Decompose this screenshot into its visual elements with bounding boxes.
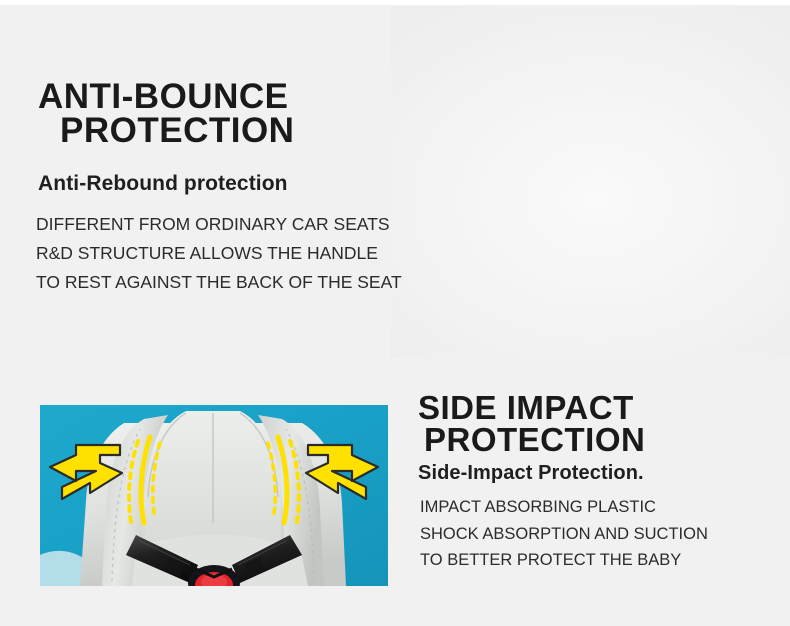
anti-bounce-headline-line1: ANTI-BOUNCE [38,80,294,114]
side-impact-headline-line1: SIDE IMPACT [418,392,645,424]
stroller-product-photo [390,6,790,358]
side-impact-body-line2: SHOCK ABSORPTION AND SUCTION [420,521,708,548]
top-white-strip [0,0,790,5]
anti-bounce-subheadline: Anti-Rebound protection [38,172,288,196]
infographic-page: ANTI-BOUNCE PROTECTION Anti-Rebound prot… [0,0,790,626]
seat-front-photo [40,405,388,586]
anti-bounce-body-line3: TO REST AGAINST THE BACK OF THE SEAT [36,268,402,297]
seat-front-illustration [40,405,388,586]
side-impact-headline: SIDE IMPACT PROTECTION [418,392,645,456]
side-impact-subheadline: Side-Impact Protection. [418,462,644,485]
side-impact-headline-line2: PROTECTION [418,424,645,456]
photo-background-wash [390,6,790,358]
anti-bounce-headline: ANTI-BOUNCE PROTECTION [38,80,294,148]
side-impact-body-text: IMPACT ABSORBING PLASTIC SHOCK ABSORPTIO… [420,494,708,574]
anti-bounce-body-line1: DIFFERENT FROM ORDINARY CAR SEATS [36,210,402,239]
side-impact-body-line1: IMPACT ABSORBING PLASTIC [420,494,708,521]
anti-bounce-body-line2: R&D STRUCTURE ALLOWS THE HANDLE [36,239,402,268]
anti-bounce-headline-line2: PROTECTION [38,114,294,148]
anti-bounce-body-text: DIFFERENT FROM ORDINARY CAR SEATS R&D ST… [36,210,402,297]
side-impact-body-line3: TO BETTER PROTECT THE BABY [420,547,708,574]
